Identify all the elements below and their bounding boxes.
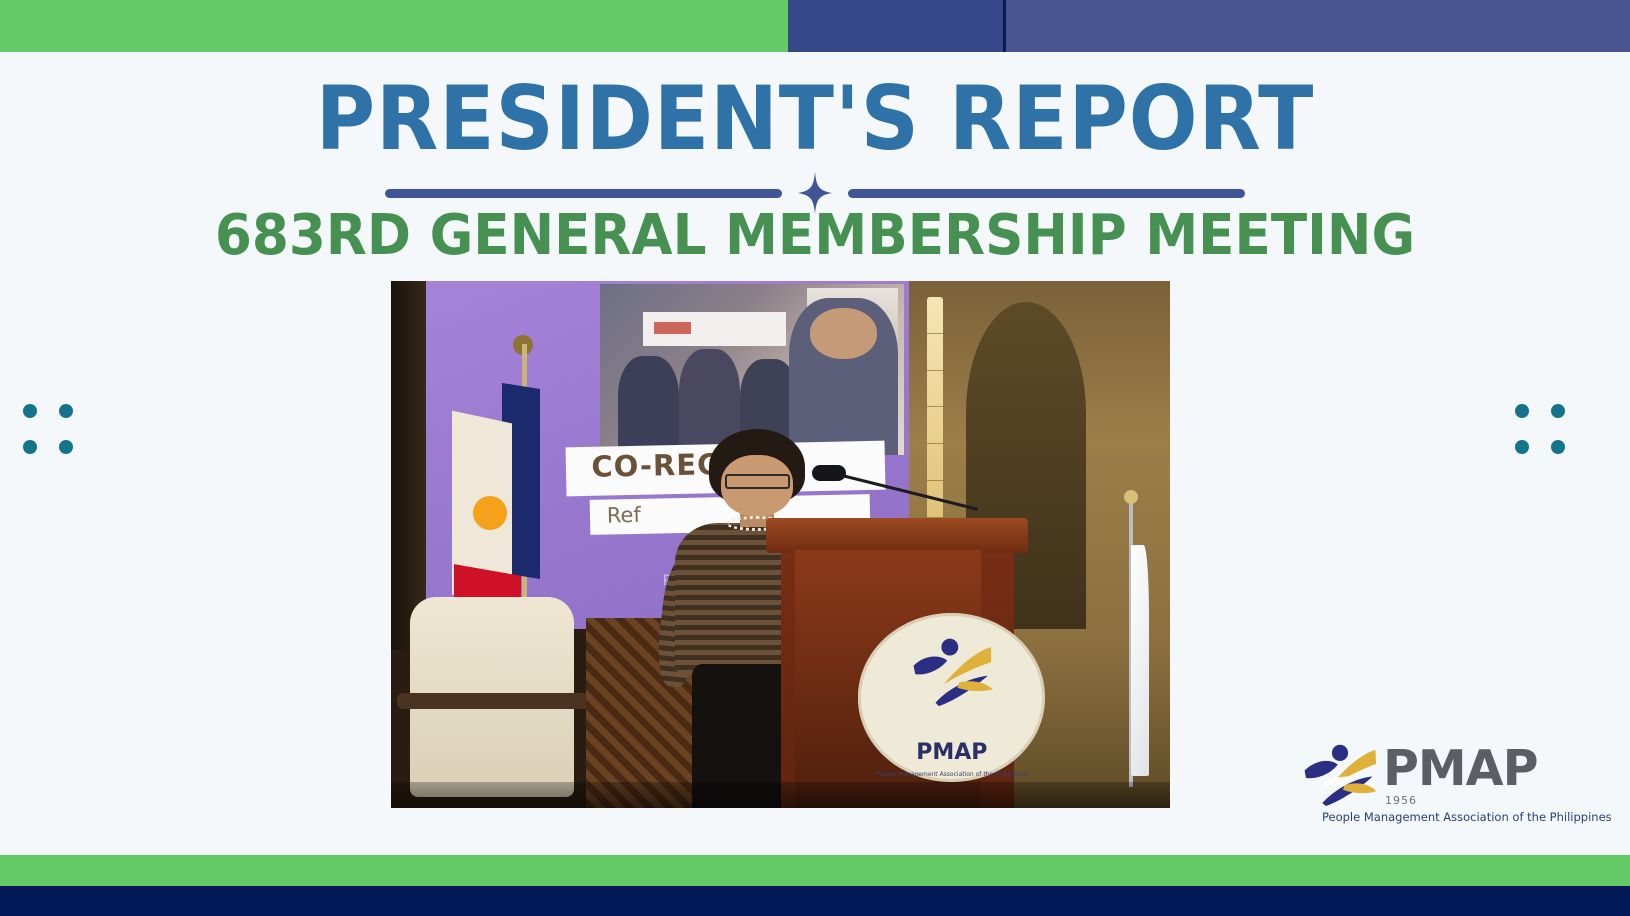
page-subtitle: 683RD GENERAL MEMBERSHIP MEETING — [41, 203, 1590, 268]
screen-person-face — [810, 308, 877, 359]
bottom-bar-green — [0, 855, 1630, 886]
dot — [1515, 404, 1529, 418]
speaker-eyeglasses — [725, 474, 790, 489]
dot — [23, 404, 37, 418]
decor-dots-left — [23, 404, 73, 454]
top-bar-segment-green — [0, 0, 788, 52]
photo-floor-shadow — [391, 782, 1170, 808]
pmap-swoosh-icon — [1303, 744, 1377, 806]
pmap-year: 1956 — [1385, 794, 1417, 807]
pmap-tagline: People Management Association of the Phi… — [1322, 810, 1612, 824]
screen-person — [618, 356, 679, 455]
podium-pmap-emblem: PMAP People Management Association of th… — [858, 613, 1045, 782]
stage-chair — [410, 597, 574, 797]
event-photo: CO-REGENE Ref Peo — [391, 281, 1170, 808]
podium-pmap-text: PMAP — [870, 740, 1035, 765]
microphone — [812, 471, 952, 487]
screen-subline-text: Ref — [607, 503, 641, 528]
top-bar-segment-blue — [788, 0, 1003, 52]
decor-dots-right — [1515, 404, 1565, 454]
divider-rule-right — [848, 189, 1245, 198]
dot — [23, 440, 37, 454]
divider-rule-left — [385, 189, 782, 198]
top-bar-segment-blue-light — [1006, 0, 1630, 52]
dot — [1551, 404, 1565, 418]
podium-pmap-subtext: People Management Association of the Phi… — [858, 771, 1045, 778]
chair-arm — [397, 693, 590, 709]
dot — [1515, 440, 1529, 454]
podium-top — [766, 518, 1028, 553]
dot — [59, 404, 73, 418]
pmap-swoosh-icon — [900, 637, 1005, 708]
dot — [1551, 440, 1565, 454]
white-flag — [1131, 545, 1149, 777]
dot — [59, 440, 73, 454]
bottom-bar-navy — [0, 886, 1630, 916]
screen-banner — [643, 312, 786, 346]
page-title: PRESIDENT'S REPORT — [65, 74, 1565, 164]
photo-wall-left — [391, 281, 430, 650]
microphone-head — [812, 465, 846, 481]
pmap-logo: PMAP 1956 People Management Association … — [1303, 740, 1545, 824]
pmap-wordmark: PMAP — [1383, 744, 1538, 793]
top-accent-bar — [0, 0, 1630, 52]
